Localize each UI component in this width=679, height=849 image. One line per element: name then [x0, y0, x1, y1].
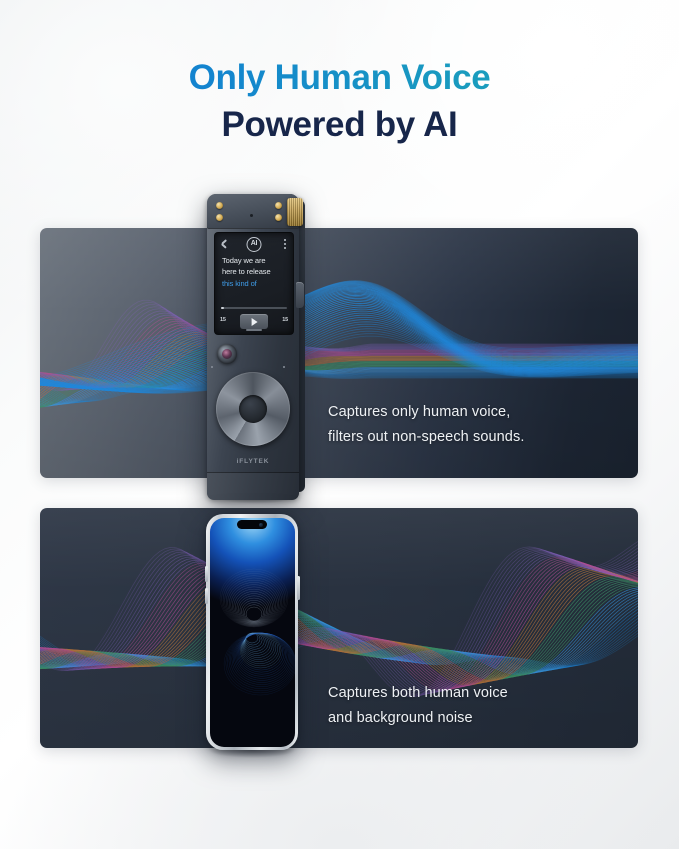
transcript-text: Today we are here to release this kind o… [222, 255, 288, 289]
voice-recorder-device: AI Today we are here to release this kin… [199, 186, 307, 499]
caption-bottom-line-1: Captures both human voice [328, 681, 508, 706]
recorder-screen[interactable]: AI Today we are here to release this kin… [214, 232, 294, 335]
status-dot-right [283, 366, 285, 368]
headline-line-2: Powered by AI [0, 107, 679, 144]
caption-top-line-2: filters out non-speech sounds. [328, 425, 524, 450]
phone-wallpaper [210, 518, 295, 747]
rewind-15-button[interactable]: 15 [220, 317, 226, 323]
play-button[interactable] [240, 314, 268, 329]
transcript-line-1: Today we are [222, 255, 288, 266]
forward-15-button[interactable]: 15 [282, 317, 288, 323]
home-indicator [246, 329, 262, 331]
caption-human-voice-only: Captures only human voice, filters out n… [328, 400, 524, 450]
power-button[interactable] [297, 576, 300, 600]
caption-voice-plus-noise: Captures both human voice and background… [328, 681, 508, 731]
brand-logo: iFLYTEK [199, 458, 307, 465]
dynamic-island [237, 520, 267, 529]
playback-controls: 15 15 [215, 314, 293, 330]
smartphone-device [206, 514, 298, 750]
pinhole-mic [250, 214, 253, 217]
marketing-image-stage: Only Human Voice Powered by AI [0, 0, 679, 849]
camera-lens [217, 344, 237, 364]
headline-block: Only Human Voice Powered by AI [0, 60, 679, 144]
status-dot-left [211, 366, 213, 368]
volume-up-button[interactable] [205, 566, 208, 582]
transcript-line-3-active: this kind of [222, 278, 288, 289]
microphone-port-4 [275, 214, 282, 221]
chevron-left-icon[interactable] [221, 238, 230, 249]
volume-down-button[interactable] [205, 588, 208, 604]
recorder-side-button[interactable] [296, 282, 304, 308]
knurled-gold-dial[interactable] [287, 198, 303, 226]
recorder-top-cap [207, 194, 299, 229]
screen-top-bar: AI [215, 237, 293, 250]
caption-bottom-line-2: and background noise [328, 706, 508, 731]
playback-progress-bar[interactable] [221, 307, 287, 309]
microphone-port-2 [216, 214, 223, 221]
jog-dial[interactable] [216, 372, 290, 446]
phone-screen[interactable] [210, 518, 295, 747]
recorder-bottom-cap [207, 472, 299, 500]
microphone-port-3 [275, 202, 282, 209]
caption-top-line-1: Captures only human voice, [328, 400, 524, 425]
microphone-port-1 [216, 202, 223, 209]
transcript-line-2: here to release [222, 266, 288, 277]
ai-badge[interactable]: AI [247, 237, 262, 252]
headline-line-1: Only Human Voice [0, 60, 679, 97]
kebab-menu-icon[interactable] [284, 239, 286, 251]
phone-frame [206, 514, 298, 750]
